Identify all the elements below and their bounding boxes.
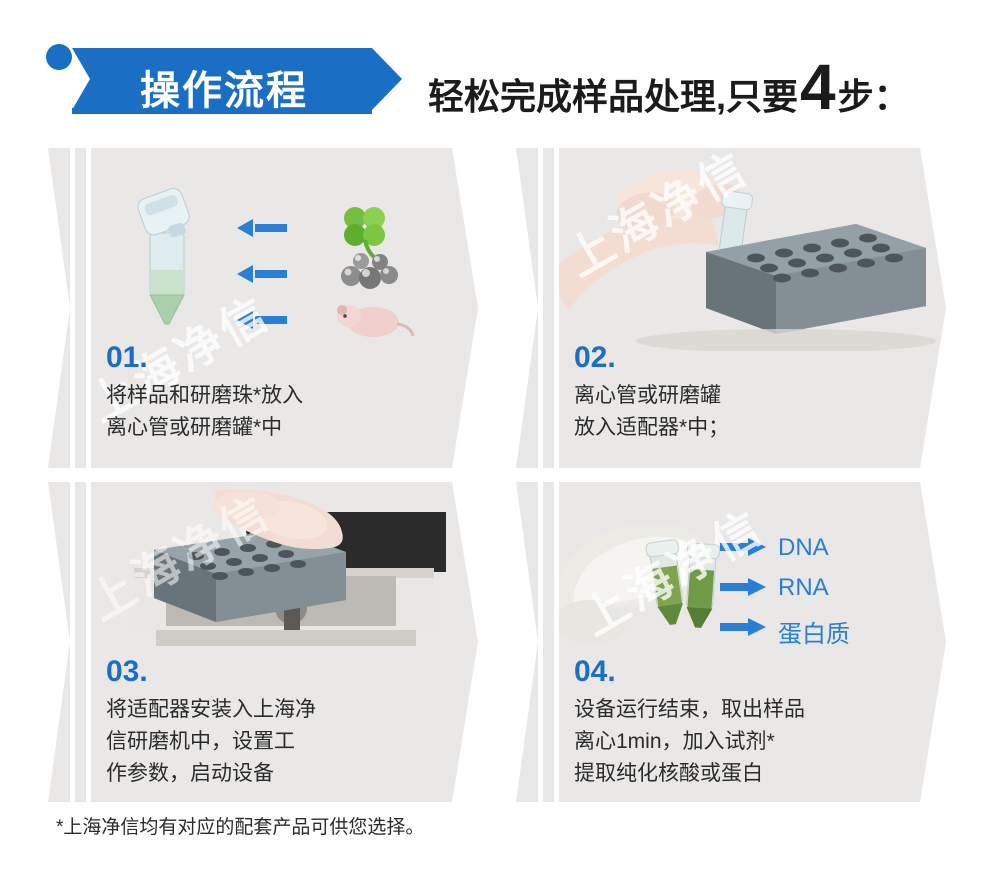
step-04-result-arrows	[716, 534, 776, 654]
step-01-line-1: 将样品和研磨珠*放入	[106, 380, 303, 412]
step-card-02-stripe-2	[554, 148, 559, 468]
step-02-line-1: 离心管或研磨罐	[574, 380, 729, 412]
step-card-04-stripe-2	[554, 482, 559, 802]
step-03-line-2: 信研磨机中，设置工	[106, 726, 316, 758]
header-dot-decoration	[46, 44, 72, 70]
step-04-description: 设备运行结束，取出样品 离心1min，加入试剂* 提取纯化核酸或蛋白	[574, 694, 805, 790]
step-01-illustration	[103, 178, 443, 358]
step-01-description: 将样品和研磨珠*放入 离心管或研磨罐*中	[106, 380, 303, 444]
step-card-04: DNA RNA 蛋白质 上海净信 04. 设备运行结束，取出样品 离心1min，…	[516, 482, 946, 802]
headline-pre-text: 轻松完成样品处理,只要	[428, 76, 798, 117]
header-banner-label: 操作流程	[140, 58, 308, 116]
step-03-illustration	[96, 490, 466, 670]
step-02-number: 02.	[574, 341, 616, 375]
page-root: 操作流程 轻松完成样品处理,只要4步：	[0, 0, 1000, 875]
step-card-01-stripe-1	[70, 148, 75, 468]
step-card-03-stripe-2	[86, 482, 91, 802]
headline-step-count: 4	[800, 51, 836, 123]
step-02-line-2: 放入适配器*中；	[574, 412, 729, 444]
step-04-line-2: 离心1min，加入试剂*	[574, 726, 805, 758]
step-03-number: 03.	[106, 655, 148, 689]
step-card-01: 上海净信 01. 将样品和研磨珠*放入 离心管或研磨罐*中	[48, 148, 478, 468]
step-03-line-1: 将适配器安装入上海净	[106, 694, 316, 726]
step-card-01-stripe-2	[86, 148, 91, 468]
step-04-number: 04.	[574, 655, 616, 689]
step-03-line-3: 作参数，启动设备	[106, 758, 316, 790]
step-card-03-stripe-1	[70, 482, 75, 802]
step-04-output-dna: DNA	[778, 534, 829, 562]
header-headline: 轻松完成样品处理,只要4步：	[428, 55, 910, 120]
step-02-illustration	[556, 156, 936, 351]
step-card-04-stripe-1	[538, 482, 543, 802]
step-card-02: 上海净信 02. 离心管或研磨罐 放入适配器*中；	[516, 148, 946, 468]
step-04-line-1: 设备运行结束，取出样品	[574, 694, 805, 726]
step-02-description: 离心管或研磨罐 放入适配器*中；	[574, 380, 729, 444]
step-04-output-rna: RNA	[778, 574, 829, 602]
headline-post-text: 步：	[838, 76, 910, 117]
step-card-03: 上海净信 03. 将适配器安装入上海净 信研磨机中，设置工 作参数，启动设备	[48, 482, 478, 802]
step-03-description: 将适配器安装入上海净 信研磨机中，设置工 作参数，启动设备	[106, 694, 316, 790]
page-header: 操作流程 轻松完成样品处理,只要4步：	[0, 0, 1000, 140]
footnote-text: *上海净信均有对应的配套产品可供您选择。	[56, 812, 424, 839]
step-01-number: 01.	[106, 341, 148, 375]
step-04-output-protein: 蛋白质	[778, 614, 850, 649]
step-04-line-3: 提取纯化核酸或蛋白	[574, 758, 805, 790]
step-01-line-2: 离心管或研磨罐*中	[106, 412, 303, 444]
step-card-02-stripe-1	[538, 148, 543, 468]
